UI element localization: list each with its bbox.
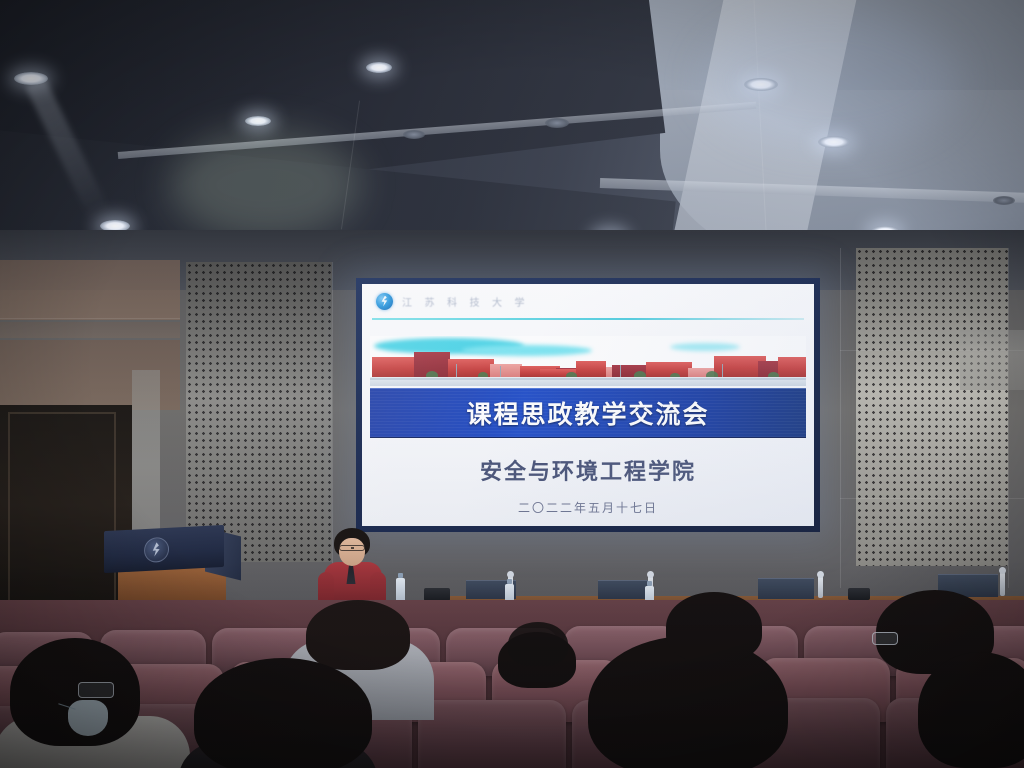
acoustic-panel-right: [856, 248, 1008, 566]
downlight-4: [366, 62, 392, 73]
downlight-3: [245, 116, 271, 126]
presenter-face: [339, 538, 365, 566]
wall-seam-6: [840, 498, 1024, 499]
wall-panel-warm-1: [0, 260, 180, 320]
slide-title-banner: 课程思政教学交流会: [370, 388, 806, 438]
projection-screen[interactable]: 江 苏 科 技 大 学: [356, 278, 820, 532]
sky-wash-3: [670, 343, 740, 351]
name-placard-3: [758, 578, 814, 599]
presenter-speaker: [316, 528, 386, 608]
slide-date: 二〇二二年五月十七日: [362, 499, 814, 516]
slide-header-rule: [372, 318, 804, 320]
downlight-11: [993, 196, 1015, 205]
sky-wash-2: [462, 345, 592, 356]
downlight-7: [744, 78, 778, 91]
campus-building-9: [576, 361, 606, 378]
wall-seam-3: [840, 248, 841, 588]
audience-person-5-head: [666, 592, 762, 662]
podium-emblem-icon: [144, 537, 169, 563]
audience-person-1-glasses-icon: [78, 682, 114, 698]
audience-person-9-head: [508, 622, 568, 666]
seat-row2-4[interactable]: [418, 700, 566, 768]
downlight-6: [403, 130, 425, 139]
audience-person-1-face-mask: [68, 700, 108, 736]
lectern-podium[interactable]: [104, 525, 224, 573]
wall-plate-right: [960, 330, 1024, 390]
microphone-4[interactable]: [1000, 572, 1005, 596]
campus-building-15: [778, 357, 806, 378]
campus-ground-line: [370, 378, 806, 380]
slide-title: 课程思政教学交流会: [466, 395, 709, 431]
slide-subtitle: 安全与环境工程学院: [362, 454, 814, 486]
campus-panorama-image: [370, 336, 806, 386]
av-speaker-box: [848, 588, 870, 600]
audience-person-2-head: [306, 600, 410, 670]
name-placard-2: [598, 580, 650, 599]
campus-building-1: [372, 357, 420, 378]
university-wordmark: 江 苏 科 技 大 学: [402, 294, 530, 309]
microphone-3[interactable]: [818, 576, 823, 598]
lecture-hall-photo: 江 苏 科 技 大 学: [0, 0, 1024, 768]
acoustic-panel-left: [186, 262, 332, 562]
wall-seam-1: [0, 318, 180, 319]
audience-person-6-glasses-icon: [872, 632, 898, 645]
campus-building-4: [490, 364, 522, 378]
downlight-5: [545, 118, 569, 128]
presenter-glasses-icon: [339, 545, 365, 551]
slide-header: 江 苏 科 技 大 学: [362, 284, 814, 318]
university-emblem-icon: [376, 293, 393, 310]
wall-panel-warm-seam: [0, 322, 180, 338]
audience-person-7-head: [918, 652, 1024, 768]
audience-person-3-head: [194, 658, 372, 768]
campus-building-11: [646, 362, 692, 378]
presentation-slide: 江 苏 科 技 大 学: [362, 284, 814, 526]
wall-seam-4: [1008, 248, 1009, 588]
door-frame: [8, 412, 116, 606]
downlight-8: [818, 136, 850, 148]
